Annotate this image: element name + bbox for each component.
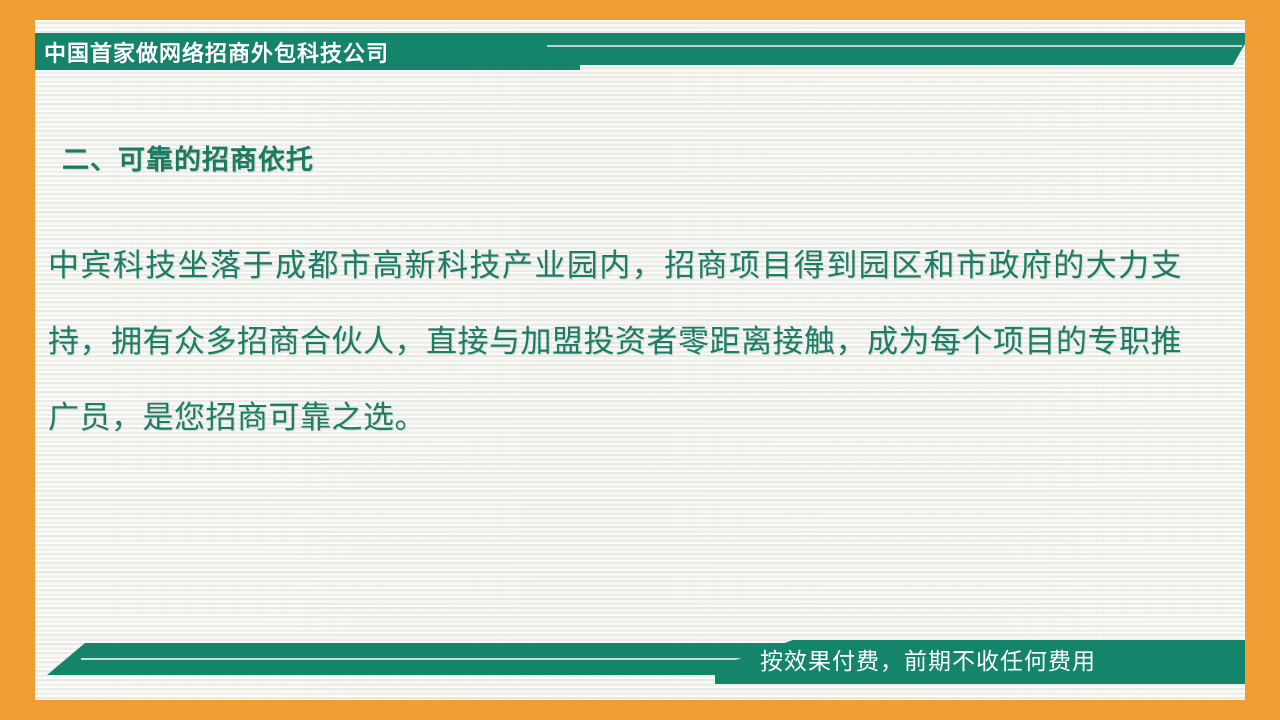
presentation-slide: 中国首家做网络招商外包科技公司 二、可靠的招商依托 中宾科技坐落于成都市高新科技… xyxy=(0,0,1280,720)
body-paragraph: 中宾科技坐落于成都市高新科技产业园内，招商项目得到园区和市政府的大力支持，拥有众… xyxy=(48,228,1182,456)
footer-tagline: 按效果付费，前期不收任何费用 xyxy=(760,645,1230,677)
section-heading: 二、可靠的招商依托 xyxy=(62,138,314,177)
header-title: 中国首家做网络招商外包科技公司 xyxy=(44,37,564,71)
